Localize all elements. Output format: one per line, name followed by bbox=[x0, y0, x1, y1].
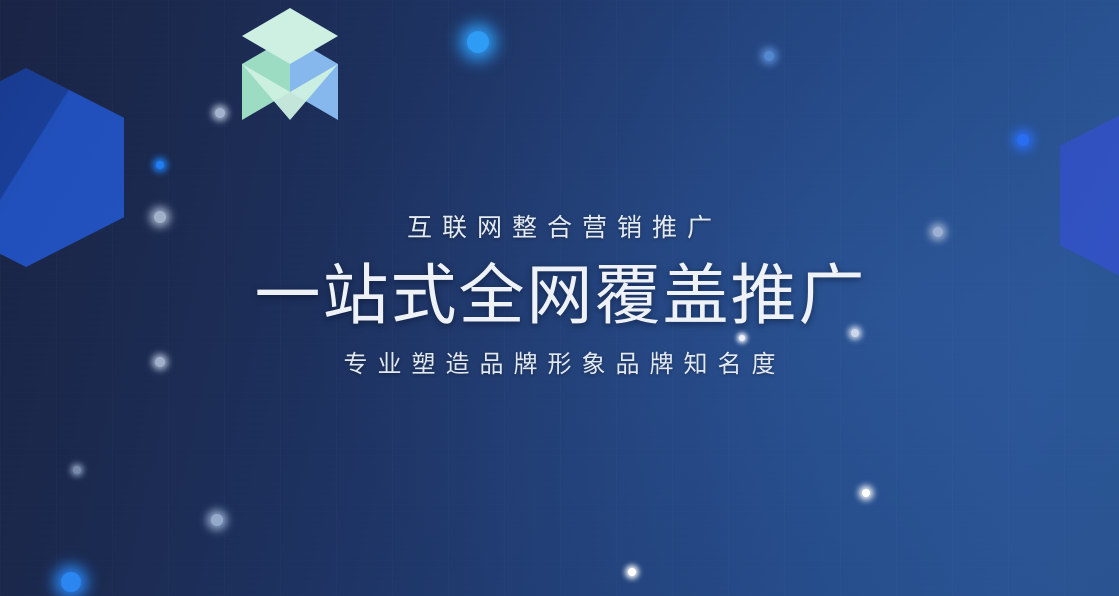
hero-subline: 专业塑造品牌形象品牌知名度 bbox=[0, 353, 1119, 377]
hero-copy: 互联网整合营销推广 一站式全网覆盖推广 专业塑造品牌形象品牌知名度 bbox=[0, 216, 1119, 377]
hero-banner: 互联网整合营销推广 一站式全网覆盖推广 专业塑造品牌形象品牌知名度 bbox=[0, 0, 1119, 596]
particle-dot bbox=[862, 489, 870, 497]
particle-dot bbox=[467, 31, 489, 53]
particle-dot bbox=[61, 572, 81, 592]
particle-dot bbox=[1017, 134, 1029, 146]
particle-dot bbox=[764, 51, 774, 61]
particle-dot bbox=[628, 568, 636, 576]
hero-tagline: 互联网整合营销推广 bbox=[0, 216, 1119, 241]
hero-headline: 一站式全网覆盖推广 bbox=[0, 262, 1119, 329]
cube-logo bbox=[240, 8, 340, 120]
particle-dot bbox=[215, 108, 225, 118]
particle-dot bbox=[73, 466, 81, 474]
particle-dot bbox=[211, 514, 223, 526]
cube-top-face-icon bbox=[242, 8, 338, 64]
particle-dot bbox=[156, 161, 164, 169]
